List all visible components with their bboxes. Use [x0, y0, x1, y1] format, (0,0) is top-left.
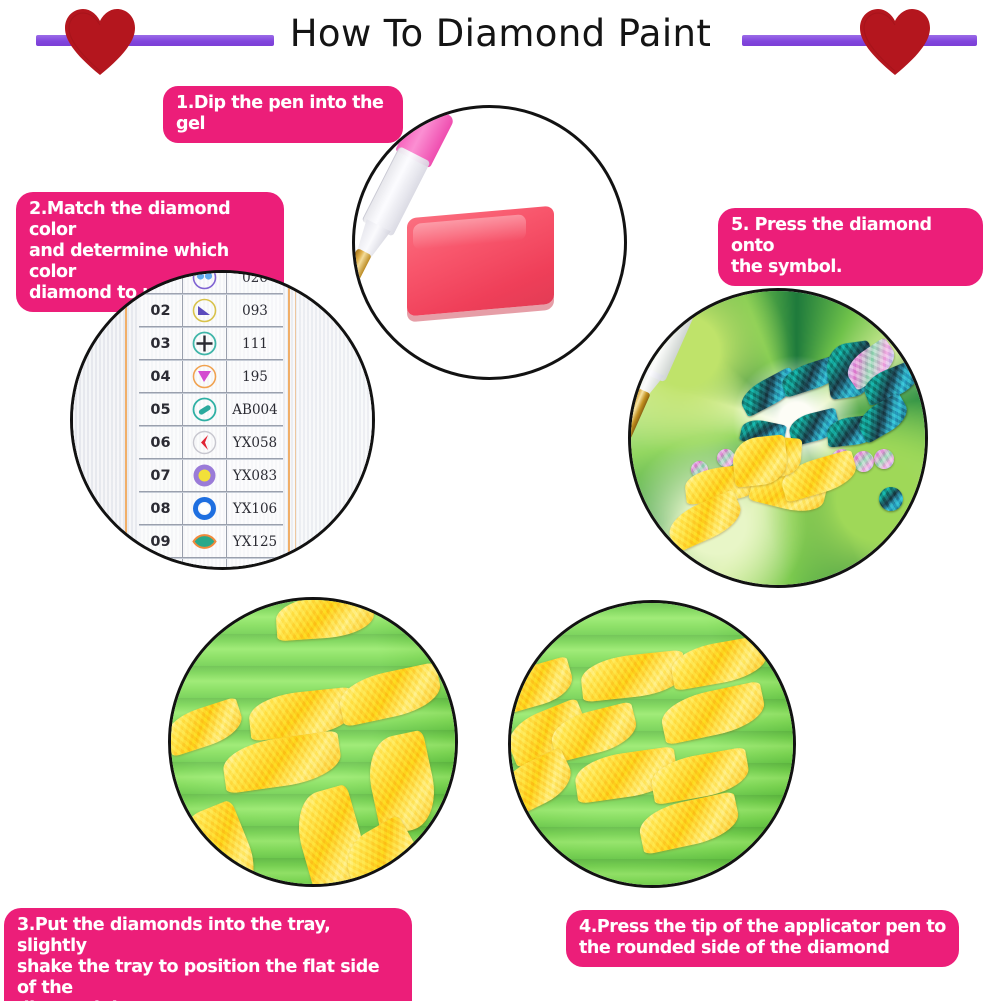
color-chart-row: 03 111 [139, 327, 283, 360]
color-chart-code: YX106 [227, 493, 283, 524]
page-title: How To Diamond Paint [0, 12, 1001, 55]
step-1-photo [352, 105, 627, 380]
filled-dot-icon [183, 460, 227, 491]
color-chart-row: 08 YX106 [139, 492, 283, 525]
color-chart-code: 093 [227, 295, 283, 326]
infographic-canvas: How To Diamond Paint 1.Dip the pen into … [0, 0, 1001, 1001]
color-chart-code: 026 [227, 270, 283, 293]
color-chart-row: 09YX125 [139, 525, 283, 558]
step-4-label: 4.Press the tip of the applicator pen to… [566, 910, 959, 967]
color-chart-row: 07 YX083 [139, 459, 283, 492]
color-chart-row [139, 558, 283, 570]
color-chart-code [227, 559, 283, 570]
step-3-photo [168, 597, 458, 887]
arrow-left-icon [183, 427, 227, 458]
leaf-icon [183, 526, 227, 557]
diamond-gem [879, 487, 903, 511]
color-chart-row: 05 AB004 [139, 393, 283, 426]
color-chart-code: YX058 [227, 427, 283, 458]
color-chart-code: 195 [227, 361, 283, 392]
color-chart-code: AB004 [227, 394, 283, 425]
color-chart-number: 05 [139, 394, 183, 425]
color-chart-row: 026 [139, 270, 283, 294]
diamonds-in-tray-photo [171, 600, 455, 884]
color-chart-code: YX125 [227, 526, 283, 557]
double-dot-icon [183, 270, 227, 293]
leaf-icon [183, 559, 227, 570]
step-4-photo [508, 600, 796, 888]
color-chart-number: 09 [139, 526, 183, 557]
plus-icon [183, 328, 227, 359]
color-chart-number: 08 [139, 493, 183, 524]
color-chart-number [139, 270, 183, 293]
color-chart-photo: 02602 09303 11104 19505 AB00406 YX05807 … [73, 273, 372, 567]
slash-pill-icon [183, 394, 227, 425]
triangle-icon [183, 295, 227, 326]
pen-dipping-into-gel-photo [355, 108, 624, 377]
triangle-down-icon [183, 361, 227, 392]
color-chart-code: 111 [227, 328, 283, 359]
color-chart-number: 07 [139, 460, 183, 491]
chart-margin-rule [125, 273, 127, 567]
step-3-label: 3.Put the diamonds into the tray, slight… [4, 908, 412, 1001]
chart-margin-rule [295, 273, 296, 567]
pen-tip [628, 387, 651, 440]
color-chart-number: 02 [139, 295, 183, 326]
color-chart-number: 06 [139, 427, 183, 458]
color-chart-number [139, 559, 183, 570]
chart-margin-rule [288, 273, 290, 567]
step-2-photo: 02602 09303 11104 19505 AB00406 YX05807 … [70, 270, 375, 570]
color-chart-number: 04 [139, 361, 183, 392]
color-chart-number: 03 [139, 328, 183, 359]
pen-picking-up-diamond-photo [511, 603, 793, 885]
color-chart-code: YX083 [227, 460, 283, 491]
step-5-photo [628, 288, 928, 588]
diamond-gem [853, 451, 874, 472]
ring-icon [183, 493, 227, 524]
color-chart-row: 04 195 [139, 360, 283, 393]
placing-diamond-on-canvas-photo [631, 291, 925, 585]
diamond-gem [874, 449, 894, 469]
step-5-label: 5. Press the diamond onto the symbol. [718, 208, 983, 286]
color-chart-table: 02602 09303 11104 19505 AB00406 YX05807 … [139, 270, 283, 570]
color-chart-row: 06 YX058 [139, 426, 283, 459]
color-chart-row: 02 093 [139, 294, 283, 327]
red-gel-pad [407, 206, 554, 317]
